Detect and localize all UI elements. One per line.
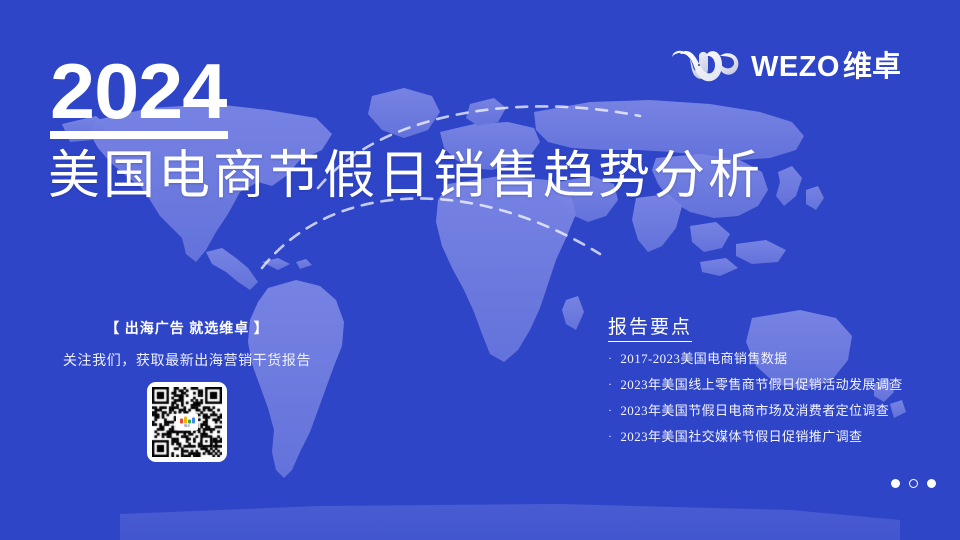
- highlights-title: 报告要点: [608, 312, 692, 342]
- pagination-dot-active[interactable]: [909, 479, 918, 488]
- list-item: · 2023年美国社交媒体节假日促销推广调查: [608, 430, 928, 443]
- promo-subtitle: 关注我们，获取最新出海营销干货报告: [42, 350, 332, 370]
- brand-cn: 维卓: [843, 51, 901, 83]
- slide-cover: WEZO维卓 2024 美国电商节假日销售趋势分析 【 出海广告 就选维卓 】 …: [0, 0, 960, 540]
- bullet-icon: ·: [608, 352, 612, 364]
- report-highlights: 报告要点 · 2017-2023美国电商销售数据 · 2023年美国线上零售商节…: [608, 312, 928, 456]
- brand-logo: WEZO维卓: [668, 44, 901, 90]
- bullet-icon: ·: [608, 404, 612, 416]
- list-item: · 2023年美国线上零售商节假日促销活动发展调查: [608, 378, 928, 391]
- qr-center-logo-icon: 维卓: [176, 414, 198, 431]
- qr-code[interactable]: 维卓: [147, 382, 227, 462]
- list-item-label: 2017-2023美国电商销售数据: [620, 352, 787, 365]
- wezo-ribbon-w-icon: [668, 46, 742, 88]
- promo-headline: 【 出海广告 就选维卓 】: [42, 318, 332, 338]
- list-item: · 2017-2023美国电商销售数据: [608, 352, 928, 365]
- year-label: 2024: [50, 58, 235, 125]
- list-item: · 2023年美国节假日电商市场及消费者定位调查: [608, 404, 928, 417]
- list-item-label: 2023年美国节假日电商市场及消费者定位调查: [620, 404, 889, 417]
- pagination-dot[interactable]: [927, 479, 936, 488]
- page-title: 美国电商节假日销售趋势分析: [48, 148, 763, 206]
- pagination-dots[interactable]: [891, 479, 936, 488]
- promo-block: 【 出海广告 就选维卓 】 关注我们，获取最新出海营销干货报告 维卓: [42, 318, 332, 462]
- year-block: 2024: [50, 58, 228, 139]
- brand-latin: WEZO: [751, 51, 840, 83]
- list-item-label: 2023年美国社交媒体节假日促销推广调查: [620, 430, 862, 443]
- highlights-list: · 2017-2023美国电商销售数据 · 2023年美国线上零售商节假日促销活…: [608, 352, 928, 443]
- pagination-dot[interactable]: [891, 479, 900, 488]
- bullet-icon: ·: [608, 430, 612, 442]
- list-item-label: 2023年美国线上零售商节假日促销活动发展调查: [620, 378, 902, 391]
- brand-wordmark: WEZO维卓: [751, 53, 901, 82]
- bullet-icon: ·: [608, 378, 612, 390]
